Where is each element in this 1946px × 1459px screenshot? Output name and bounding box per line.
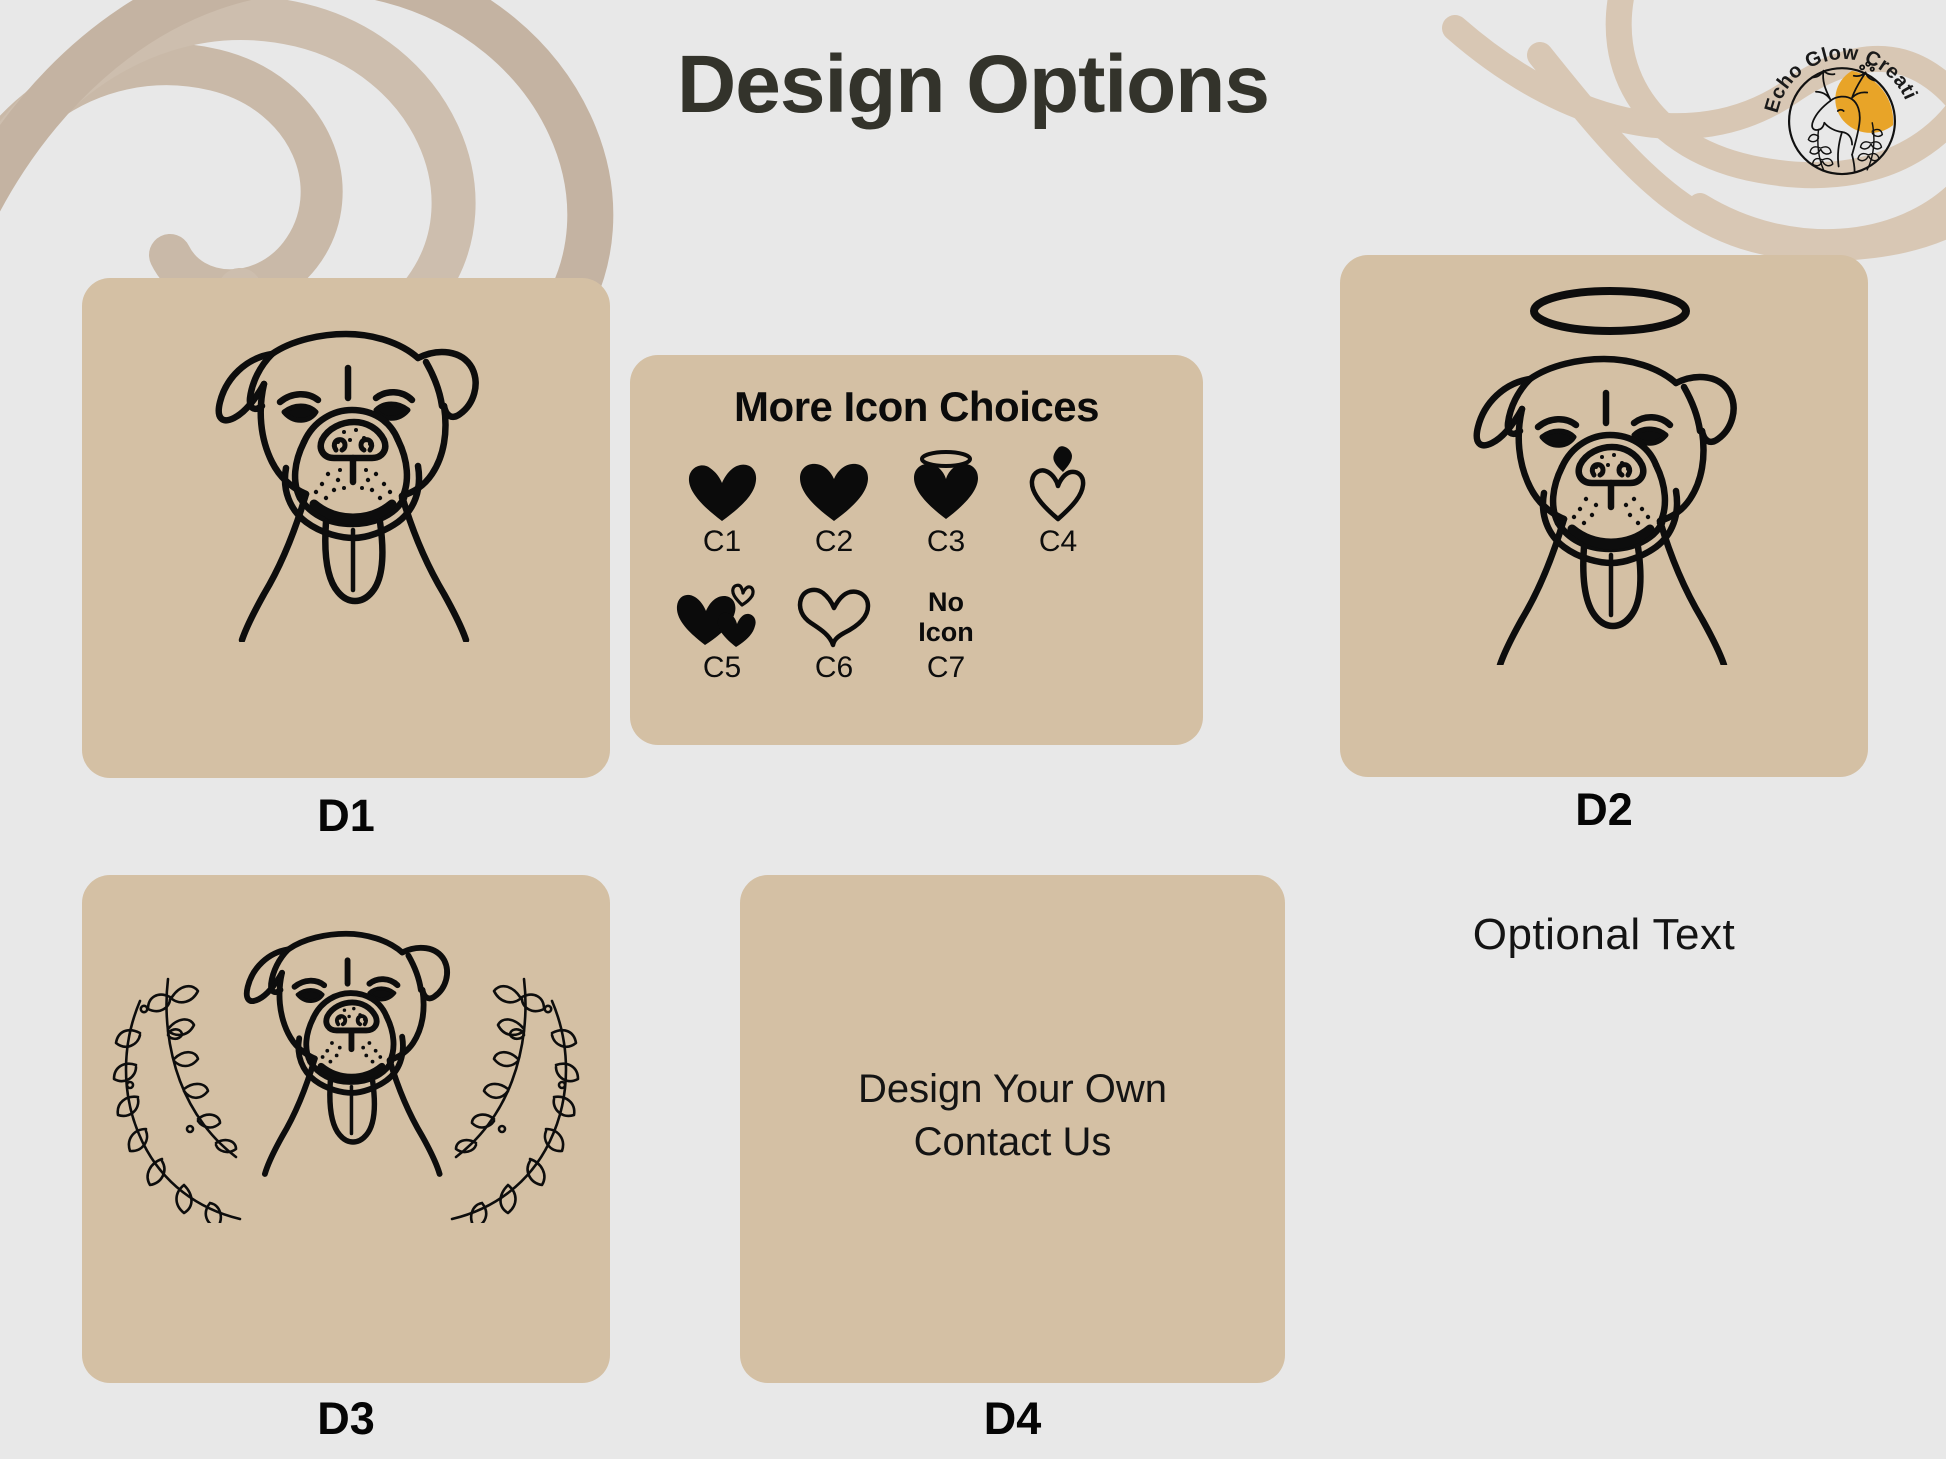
design-caption-d3: D3 [82,1393,610,1445]
no-icon-placeholder: No Icon [890,577,1002,649]
icon-option-c7[interactable]: No Icon C7 [890,577,1002,685]
d4-line-1: Design Your Own [740,1063,1285,1116]
outline-heart-icon [778,577,890,649]
wreath-branch-right-icon [452,979,578,1223]
icon-label-c4: C4 [1002,525,1114,559]
icon-option-c1[interactable]: C1 [666,451,778,559]
brand-logo: Echo Glow Creations [1758,22,1926,190]
icon-row-2: C5 C6 No Icon C7 [666,577,1166,685]
icon-option-c2[interactable]: C2 [778,451,890,559]
outline-heart-with-small-heart-icon [1002,451,1114,523]
wreath-branch-left-icon [114,979,240,1223]
no-icon-word-2: Icon [918,617,974,647]
design-caption-d4: D4 [740,1393,1285,1445]
pitbull-line-art-icon [176,292,516,642]
more-icon-choices-panel: More Icon Choices C1 C2 [630,355,1203,745]
icon-panel-title: More Icon Choices [630,383,1203,431]
design-card-d3[interactable]: Optional Text [82,875,610,1383]
icon-row-1: C1 C2 C3 [666,451,1166,559]
icon-option-c4[interactable]: C4 [1002,451,1114,559]
no-icon-word-1: No [918,587,974,617]
two-filled-hearts-icon [666,577,778,649]
optional-text-d2: Optional Text [1340,910,1868,960]
design-card-d1[interactable]: Optional Text [82,278,610,778]
icon-label-c6: C6 [778,651,890,685]
design-your-own-text: Design Your Own Contact Us [740,1063,1285,1169]
icon-grid: C1 C2 C3 [666,451,1166,685]
icon-option-c3[interactable]: C3 [890,451,1002,559]
design-caption-d1: D1 [82,790,610,842]
filled-heart-icon [778,451,890,523]
pitbull-line-art-with-halo-icon [1434,275,1774,665]
filled-heart-with-halo-icon [890,451,1002,523]
design-caption-d2: D2 [1340,784,1868,836]
icon-label-c1: C1 [666,525,778,559]
halo-icon [1534,291,1686,331]
icon-option-c6[interactable]: C6 [778,577,890,685]
pitbull-line-art-with-botanical-wreath-icon [106,893,586,1223]
page-title: Design Options [0,38,1946,132]
icon-option-c5[interactable]: C5 [666,577,778,685]
filled-brush-heart-icon [666,451,778,523]
design-card-d4[interactable]: Design Your Own Contact Us [740,875,1285,1383]
icon-label-c3: C3 [890,525,1002,559]
icon-label-c2: C2 [778,525,890,559]
icon-label-c5: C5 [666,651,778,685]
icon-label-c7: C7 [890,651,1002,685]
d4-line-2: Contact Us [740,1116,1285,1169]
design-card-d2[interactable]: Optional Text [1340,255,1868,777]
